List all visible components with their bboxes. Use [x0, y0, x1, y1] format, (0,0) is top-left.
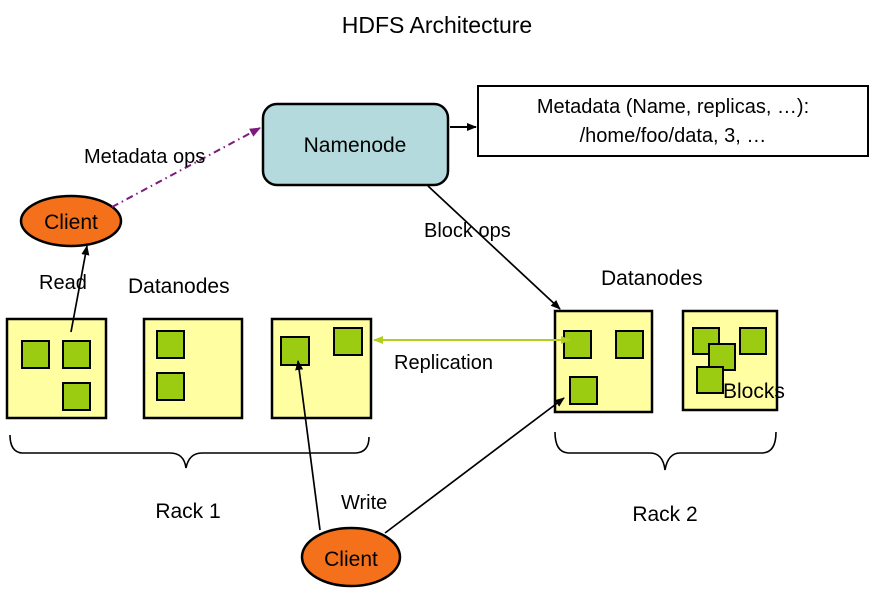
- rack-1-label: Rack 1: [155, 500, 220, 523]
- read-label: Read: [39, 272, 87, 294]
- block[interactable]: [22, 341, 49, 368]
- rack-1-group: [7, 319, 371, 418]
- datanodes-left-label: Datanodes: [128, 275, 230, 298]
- block[interactable]: [570, 377, 597, 404]
- hdfs-architecture-diagram: HDFS Architecture: [0, 0, 874, 604]
- metadata-line-1: Metadata (Name, replicas, …):: [537, 96, 809, 118]
- block[interactable]: [281, 337, 309, 365]
- block[interactable]: [697, 367, 723, 393]
- client-bottom-node[interactable]: Client: [302, 528, 400, 586]
- metadata-box: Metadata (Name, replicas, …): /home/foo/…: [478, 86, 868, 156]
- diagram-canvas: HDFS Architecture: [0, 0, 874, 604]
- blocks-label: Blocks: [723, 380, 785, 403]
- namenode-node[interactable]: Namenode: [263, 104, 448, 185]
- datanode-2[interactable]: [144, 319, 242, 418]
- client-top-label: Client: [44, 211, 98, 234]
- rack-2-group: Blocks: [555, 311, 785, 412]
- replication-label: Replication: [394, 352, 493, 374]
- datanode-4[interactable]: [555, 311, 652, 412]
- client-top-node[interactable]: Client: [21, 196, 121, 246]
- block[interactable]: [63, 383, 90, 410]
- block[interactable]: [157, 331, 184, 358]
- block[interactable]: [564, 331, 591, 358]
- datanode-3[interactable]: [272, 319, 371, 418]
- block[interactable]: [616, 331, 643, 358]
- block-ops-label: Block ops: [424, 220, 511, 242]
- page-title: HDFS Architecture: [342, 12, 532, 38]
- block[interactable]: [740, 328, 766, 354]
- client-bottom-label: Client: [324, 548, 378, 571]
- write-arrow-right: [385, 398, 564, 533]
- rack-2-brace: [555, 432, 776, 470]
- datanodes-right-label: Datanodes: [601, 267, 703, 290]
- namenode-label: Namenode: [304, 134, 407, 157]
- block[interactable]: [157, 373, 184, 400]
- write-label: Write: [341, 492, 387, 514]
- metadata-ops-label: Metadata ops: [84, 146, 205, 168]
- block[interactable]: [63, 341, 90, 368]
- datanode-1[interactable]: [7, 319, 106, 418]
- block[interactable]: [334, 328, 362, 355]
- rack-2-label: Rack 2: [632, 503, 697, 526]
- block-ops-arrow: [428, 186, 560, 309]
- metadata-line-2: /home/foo/data, 3, …: [580, 125, 767, 147]
- rack-1-brace: [10, 435, 369, 468]
